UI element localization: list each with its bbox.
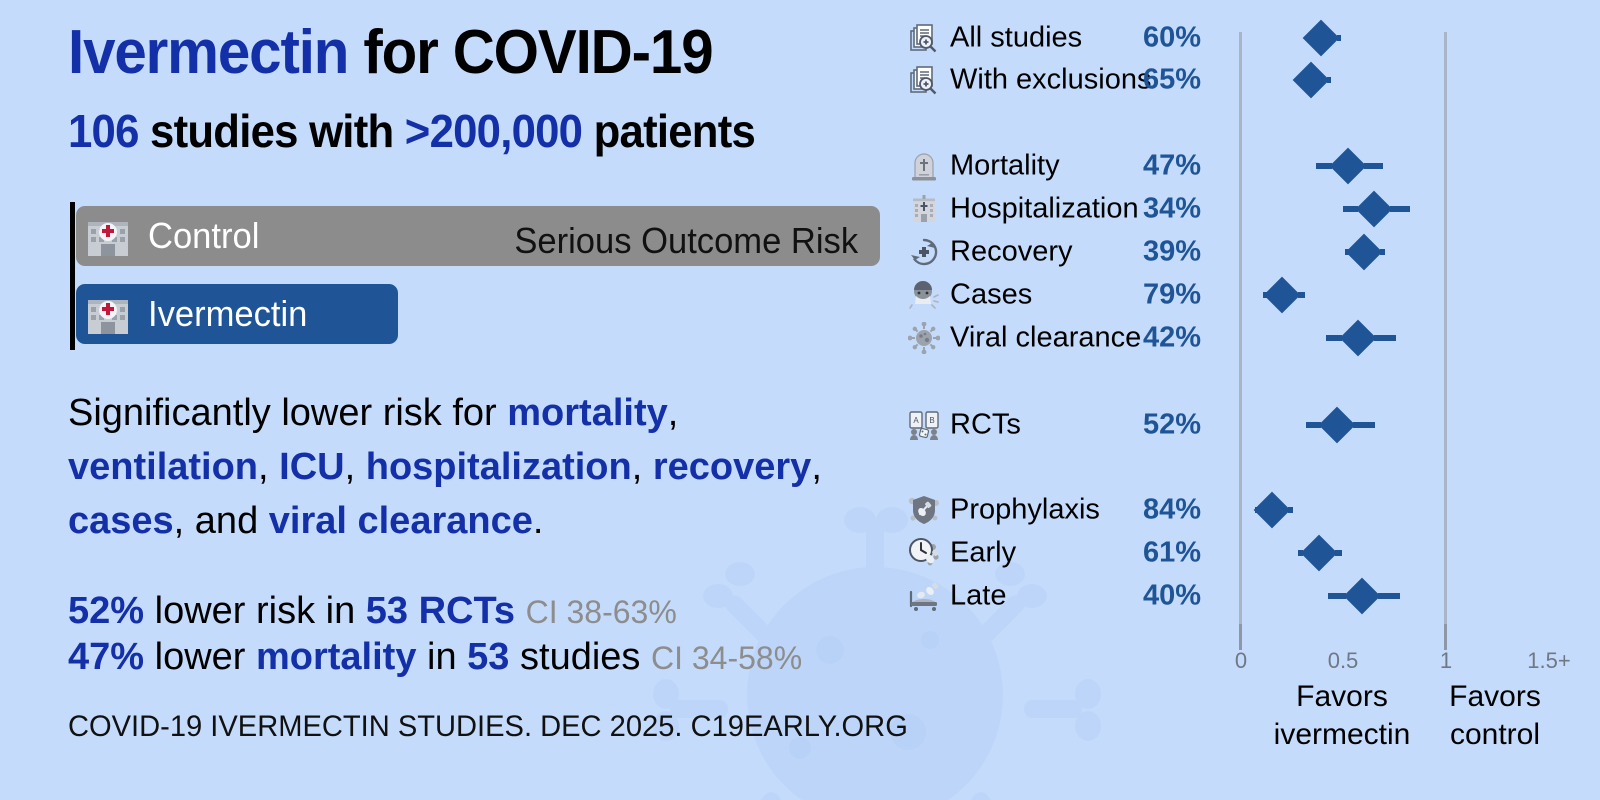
favors-ivermectin-label: Favorsivermectin bbox=[1274, 678, 1411, 754]
title-drug: Ivermectin bbox=[68, 18, 348, 87]
axis-tick-label: 1 bbox=[1440, 648, 1452, 674]
forest-row-cases[interactable]: Cases79% bbox=[900, 275, 1600, 315]
axis-tick-label: 0.5 bbox=[1328, 648, 1359, 674]
ci-whisker-high bbox=[1378, 593, 1400, 599]
favors-right-line1: Favors bbox=[1449, 680, 1541, 713]
stat-mortality-mid2: in bbox=[416, 636, 467, 678]
hospital-icon bbox=[82, 210, 134, 262]
subtitle-patient-count: >200,000 bbox=[405, 105, 582, 157]
outcome-ventilation: ventilation bbox=[68, 446, 258, 488]
footer-attribution: COVID-19 IVERMECTIN STUDIES. DEC 2025. C… bbox=[68, 710, 908, 744]
stat-mortality-count: 53 bbox=[467, 636, 509, 678]
control-bar: Control Serious Outcome Risk bbox=[76, 206, 880, 266]
stat-mortality-pct: 47% bbox=[68, 636, 144, 678]
forest-row-early[interactable]: Early61% bbox=[900, 533, 1600, 573]
stat-mortality-suffix: studies bbox=[509, 636, 640, 678]
outcome-viral-clearance: viral clearance bbox=[269, 500, 533, 542]
page-title: Ivermectin for COVID-19 bbox=[68, 22, 712, 84]
stat-mortality-ci: CI 34-58% bbox=[651, 640, 802, 676]
outcome-recovery: recovery bbox=[653, 446, 811, 488]
outcome-icu: ICU bbox=[279, 446, 344, 488]
forest-marker bbox=[900, 576, 1600, 616]
forest-marker bbox=[900, 18, 1600, 58]
stat-mortality: 47% lower mortality in 53 studies CI 34-… bbox=[68, 638, 802, 676]
serious-outcome-risk-label: Serious Outcome Risk bbox=[514, 220, 858, 262]
title-rest: for COVID-19 bbox=[348, 18, 712, 87]
forest-marker bbox=[900, 318, 1600, 358]
left-panel: Ivermectin for COVID-19 106 studies with… bbox=[0, 0, 900, 800]
point-estimate-diamond bbox=[1292, 62, 1329, 99]
forest-marker bbox=[900, 232, 1600, 272]
forest-marker bbox=[900, 60, 1600, 100]
point-estimate-diamond bbox=[1346, 234, 1383, 271]
point-estimate-diamond bbox=[1303, 20, 1340, 57]
axis-tick-label: 0 bbox=[1235, 648, 1247, 674]
point-estimate-diamond bbox=[1264, 277, 1301, 314]
forest-marker bbox=[900, 189, 1600, 229]
control-bar-label: Control bbox=[148, 215, 259, 257]
ci-whisker-high bbox=[1374, 335, 1396, 341]
point-estimate-diamond bbox=[1253, 492, 1290, 529]
ivermectin-bar-label: Ivermectin bbox=[148, 293, 307, 335]
subtitle-mid: studies with bbox=[139, 105, 405, 157]
forest-row-rcts[interactable]: A B RCTs52% bbox=[900, 405, 1600, 445]
ci-whisker-high bbox=[1353, 422, 1375, 428]
forest-row-with-exclusions[interactable]: With exclusions65% bbox=[900, 60, 1600, 100]
stat-rcts-subject: 53 RCTs bbox=[366, 590, 515, 632]
ci-whisker-high bbox=[1390, 206, 1410, 212]
subtitle-end: patients bbox=[582, 105, 755, 157]
subtitle-study-count: 106 bbox=[68, 105, 139, 157]
ivermectin-bar: Ivermectin bbox=[76, 284, 398, 344]
summary-prefix: Significantly lower risk for bbox=[68, 392, 507, 434]
axis-tick bbox=[1239, 624, 1242, 650]
outcome-cases: cases bbox=[68, 500, 174, 542]
favors-control-label: Favorscontrol bbox=[1449, 678, 1541, 754]
ci-whisker-high bbox=[1364, 163, 1384, 169]
and-word: and bbox=[195, 500, 258, 542]
outcome-mortality: mortality bbox=[507, 392, 667, 434]
forest-row-mortality[interactable]: Mortality47% bbox=[900, 146, 1600, 186]
forest-row-viral-clearance[interactable]: Viral clearance42% bbox=[900, 318, 1600, 358]
hospital-icon bbox=[82, 288, 134, 340]
stat-mortality-subject: mortality bbox=[256, 636, 416, 678]
forest-row-prophylaxis[interactable]: Prophylaxis84% bbox=[900, 490, 1600, 530]
point-estimate-diamond bbox=[1340, 320, 1377, 357]
favors-left-line2: ivermectin bbox=[1274, 718, 1411, 751]
forest-plot: All studies60% With exclusions65% Mortal… bbox=[900, 0, 1600, 800]
axis-tick bbox=[1444, 624, 1447, 650]
page-subtitle: 106 studies with >200,000 patients bbox=[68, 108, 755, 154]
stat-rcts: 52% lower risk in 53 RCTs CI 38-63% bbox=[68, 592, 677, 630]
forest-marker bbox=[900, 275, 1600, 315]
forest-marker bbox=[900, 146, 1600, 186]
forest-marker bbox=[900, 533, 1600, 573]
forest-row-hospitalization[interactable]: Hospitalization34% bbox=[900, 189, 1600, 229]
point-estimate-diamond bbox=[1319, 407, 1356, 444]
point-estimate-diamond bbox=[1329, 148, 1366, 185]
favors-left-line1: Favors bbox=[1296, 680, 1388, 713]
forest-row-recovery[interactable]: Recovery39% bbox=[900, 232, 1600, 272]
forest-marker bbox=[900, 490, 1600, 530]
stat-rcts-mid: lower risk in bbox=[144, 590, 366, 632]
forest-row-all-studies[interactable]: All studies60% bbox=[900, 18, 1600, 58]
favors-right-line2: control bbox=[1450, 718, 1540, 751]
forest-row-late[interactable]: Late40% bbox=[900, 576, 1600, 616]
summary-paragraph: Significantly lower risk for mortality, … bbox=[68, 386, 868, 548]
bar-chart-axis bbox=[70, 202, 75, 350]
outcome-hospitalization: hospitalization bbox=[366, 446, 632, 488]
axis-tick-label: 1.5+ bbox=[1527, 648, 1570, 674]
point-estimate-diamond bbox=[1301, 535, 1338, 572]
infographic-canvas: Ivermectin for COVID-19 106 studies with… bbox=[0, 0, 1600, 800]
point-estimate-diamond bbox=[1356, 191, 1393, 228]
point-estimate-diamond bbox=[1344, 578, 1381, 615]
serious-outcome-bar-chart: Control Serious Outcome Risk Ivermectin bbox=[70, 202, 882, 350]
stat-rcts-pct: 52% bbox=[68, 590, 144, 632]
stat-mortality-mid: lower bbox=[144, 636, 256, 678]
stat-rcts-ci: CI 38-63% bbox=[526, 594, 677, 630]
forest-marker bbox=[900, 405, 1600, 445]
